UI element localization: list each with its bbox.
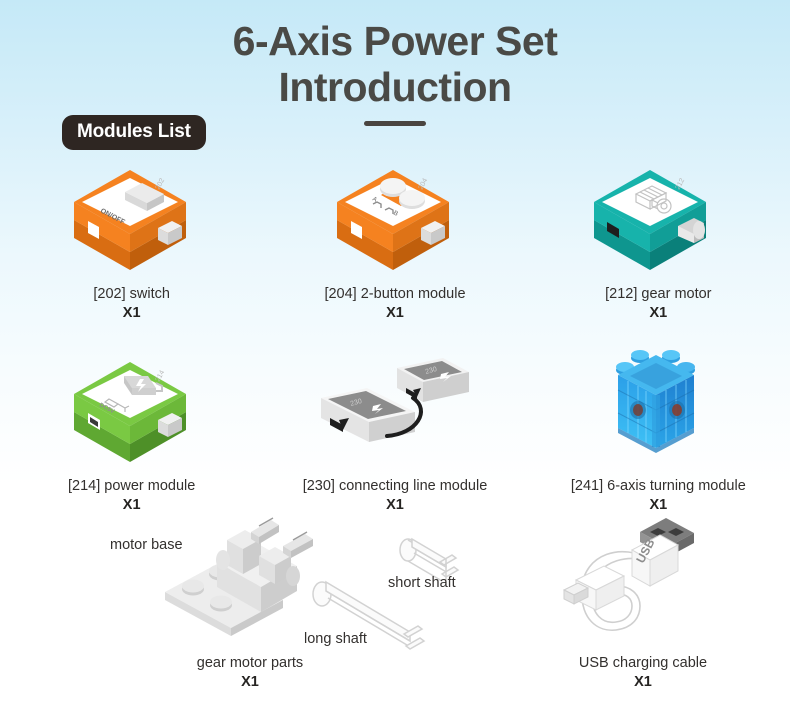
gear-motor-parts-caption: gear motor parts X1 <box>150 654 350 692</box>
module-art-204: A B 204 <box>315 158 475 276</box>
gear-motor-parts-qty: X1 <box>150 673 350 692</box>
modules-list-badge: Modules List <box>62 115 206 150</box>
module-card-230[interactable]: 230 230 <box>263 350 526 514</box>
usb-cable-label: USB charging cable <box>579 655 707 671</box>
page-header: 6-Axis Power Set Introduction Modules Li… <box>0 0 790 126</box>
micro-usb-connector <box>564 566 624 610</box>
module-label-214: [214] power module <box>68 477 195 496</box>
module-qty-202: X1 <box>123 304 141 322</box>
usb-cable-illustration: USB <box>548 502 738 652</box>
module-number-204: 204 <box>418 177 430 191</box>
module-card-202[interactable]: ON/OFF 202 [202] switch X1 <box>0 158 263 322</box>
module-label-212: [212] gear motor <box>605 285 711 304</box>
page-title-line2: Introduction <box>278 64 511 110</box>
module-card-241[interactable]: [241] 6-axis turning module X1 <box>527 350 790 514</box>
module-label-230: [230] connecting line module <box>303 477 488 496</box>
gear-motor-module-illustration: 212 <box>578 158 738 276</box>
connecting-line-module-illustration: 230 230 <box>305 350 485 468</box>
parts-section: motor base gear motor parts X1 <box>0 498 790 714</box>
modules-grid: ON/OFF 202 [202] switch X1 <box>0 158 790 514</box>
title-divider <box>364 121 426 126</box>
two-button-module-illustration: A B 204 <box>315 158 475 276</box>
module-art-214: DC5V 214 <box>52 350 212 468</box>
usb-cable-caption: USB charging cable X1 <box>528 654 758 692</box>
module-art-202: ON/OFF 202 <box>52 158 212 276</box>
connector-block-back: 230 <box>397 358 469 402</box>
module-label-204: [204] 2-button module <box>324 285 465 304</box>
usb-cable-art[interactable]: USB <box>548 502 738 652</box>
switch-module-illustration: ON/OFF 202 <box>52 158 212 276</box>
page-title: 6-Axis Power Set Introduction <box>0 0 790 110</box>
module-art-230: 230 230 <box>305 350 485 468</box>
modules-row-2: DC5V 214 [214] power module <box>0 350 790 514</box>
six-axis-turning-module-illustration <box>578 343 738 468</box>
module-label-241: [241] 6-axis turning module <box>571 477 746 496</box>
module-qty-212: X1 <box>649 304 667 322</box>
module-art-241 <box>578 350 738 468</box>
module-card-214[interactable]: DC5V 214 [214] power module <box>0 350 263 514</box>
module-card-212[interactable]: 212 [212] gear motor X1 <box>527 158 790 322</box>
long-shaft-label: long shaft <box>304 631 367 647</box>
module-number-202: 202 <box>154 177 166 191</box>
module-qty-204: X1 <box>386 304 404 322</box>
page-title-line1: 6-Axis Power Set <box>233 18 558 64</box>
module-number-212: 212 <box>675 177 687 191</box>
motor-base-label: motor base <box>110 537 183 553</box>
usb-cable-qty: X1 <box>528 673 758 692</box>
short-shaft-label: short shaft <box>388 575 456 591</box>
module-art-212: 212 <box>578 158 738 276</box>
module-number-214: 214 <box>154 369 166 383</box>
module-card-204[interactable]: A B 204 [204] 2-button module X1 <box>263 158 526 322</box>
power-module-illustration: DC5V 214 <box>52 350 212 468</box>
module-label-202: [202] switch <box>93 285 170 304</box>
gear-motor-parts-label: gear motor parts <box>197 655 303 671</box>
modules-row-1: ON/OFF 202 [202] switch X1 <box>0 158 790 322</box>
usb-a-connector: USB <box>632 518 694 586</box>
